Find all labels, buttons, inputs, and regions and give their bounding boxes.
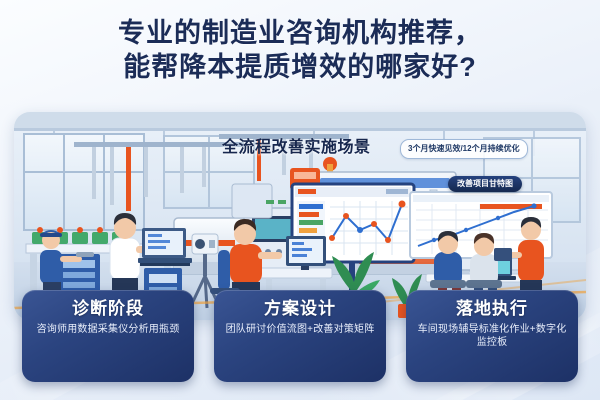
headline-line-2: 能帮降本提质增效的哪家好? — [0, 50, 600, 84]
stage-card-description: 车间现场辅导标准化作业+数字化监控板 — [414, 323, 570, 351]
stage-card-title: 诊断阶段 — [30, 299, 186, 319]
stage-card-solution-design[interactable]: 方案设计 团队研讨价值流图+改善对策矩阵 — [214, 290, 386, 382]
gantt-chart-label: 改善项目甘特图 — [448, 176, 522, 192]
stage-card-list: 诊断阶段 咨询师用数据采集仪分析用瓶颈 方案设计 团队研讨价值流图+改善对策矩阵… — [0, 290, 600, 382]
stage-card-description: 团队研讨价值流图+改善对策矩阵 — [222, 323, 378, 337]
stage-card-title: 落地执行 — [414, 299, 570, 319]
stage-card-diagnosis[interactable]: 诊断阶段 咨询师用数据采集仪分析用瓶颈 — [22, 290, 194, 382]
headline-line-1: 专业的制造业咨询机构推荐， — [0, 16, 600, 50]
stage-card-title: 方案设计 — [222, 299, 378, 319]
timeline-badge: 3个月快速见效/12个月持续优化 — [400, 139, 528, 159]
headline: 专业的制造业咨询机构推荐， 能帮降本提质增效的哪家好? — [0, 16, 600, 84]
stage-card-execution[interactable]: 落地执行 车间现场辅导标准化作业+数字化监控板 — [406, 290, 578, 382]
scene-subtitle: 全流程改善实施场景 — [222, 133, 371, 157]
stage-card-description: 咨询师用数据采集仪分析用瓶颈 — [30, 323, 186, 337]
poster-root: 专业的制造业咨询机构推荐， 能帮降本提质增效的哪家好? — [0, 0, 600, 400]
